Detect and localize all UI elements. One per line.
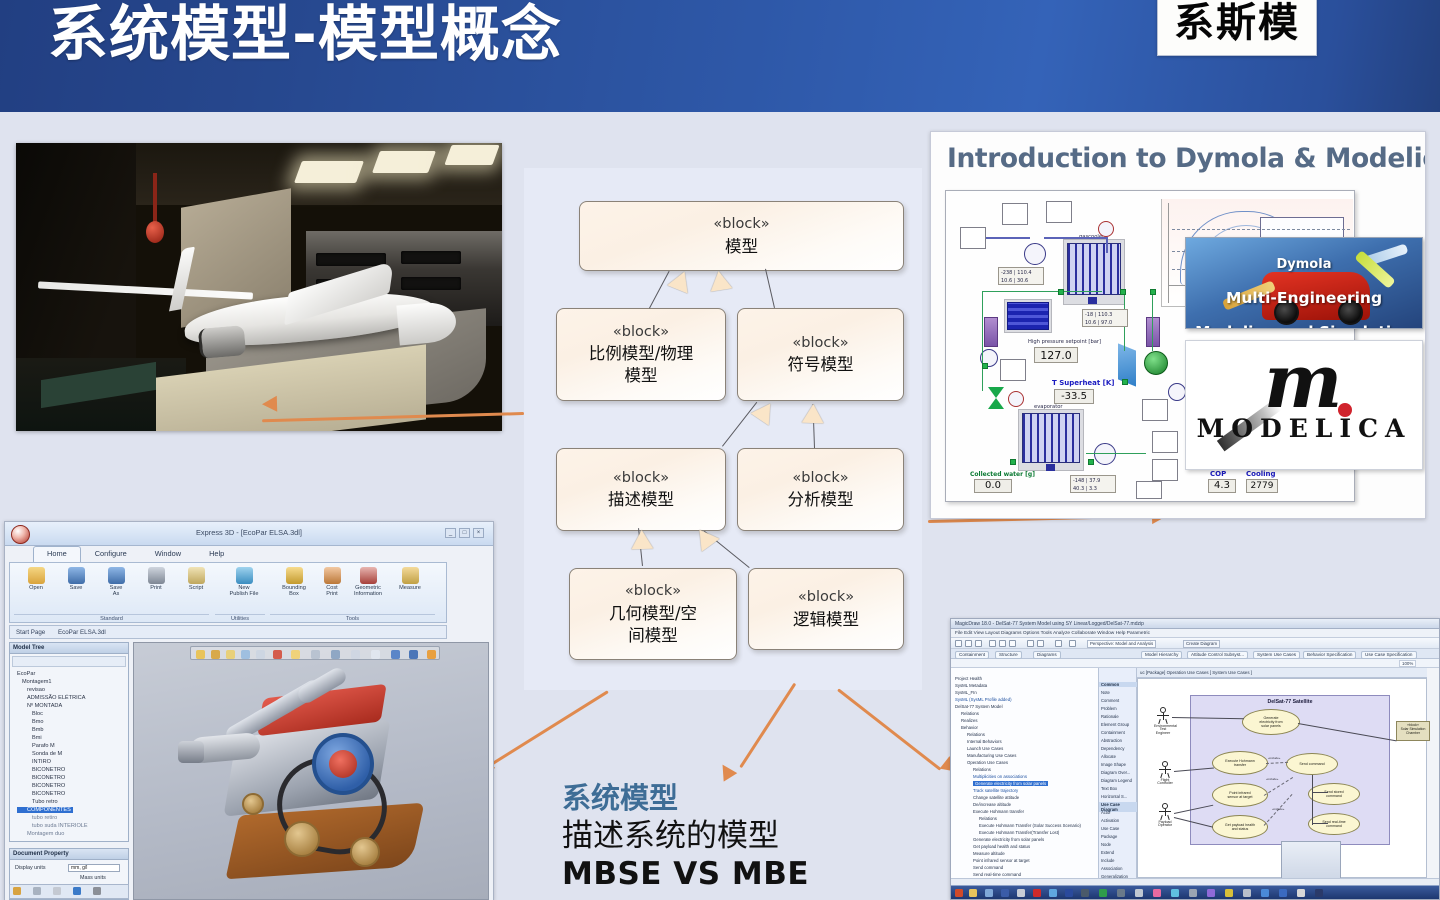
dymola-pump [1094, 443, 1116, 465]
palette-item[interactable]: Association [1101, 866, 1122, 871]
script-icon [188, 567, 205, 584]
pointer-arrow-to-caption [739, 683, 796, 769]
cad-ribbon-tabs: Home Configure Window Help [33, 546, 238, 562]
tree-item[interactable]: INTIRO [17, 759, 51, 765]
md-tree-item[interactable]: De/increase altitude [973, 802, 1011, 807]
maximize-button[interactable]: □ [459, 528, 470, 538]
md-tree-item[interactable]: Operation Use Cases [967, 760, 1008, 765]
tree-item[interactable]: tubo retiro [17, 815, 57, 821]
md-tree-item[interactable]: Launch Use Cases [967, 746, 1003, 751]
save-icon[interactable] [975, 640, 982, 647]
floppy-disk-icon [68, 567, 85, 584]
light-icon[interactable] [371, 650, 380, 659]
report-icon[interactable] [1069, 640, 1076, 647]
dymola-fan [1098, 221, 1114, 237]
block-name: 描述模型 [608, 489, 674, 511]
dymola-node-value: -148 | 37.9 [1073, 478, 1100, 484]
taskbar-icon[interactable] [1261, 889, 1269, 897]
dymola-mini-plot [1152, 431, 1178, 453]
block-name: 逻辑模型 [793, 609, 859, 631]
dymola-device [1146, 317, 1160, 347]
annotate-icon[interactable] [391, 650, 400, 659]
md-tree-item[interactable]: DelSat-77 System Model [955, 704, 1003, 709]
ribbon-button-new-publish-file[interactable]: New Publish File [222, 567, 266, 598]
md-tree-item-selected[interactable]: Generate electricity from solar panels [973, 781, 1048, 786]
dymola-device [984, 317, 998, 347]
palette-item[interactable]: Diagram Over... [1101, 770, 1130, 775]
dymola-mini-plot [1136, 481, 1162, 499]
actor-label: Flight Controller [1156, 779, 1174, 787]
magicdraw-browser-tabs: Containment Structure Diagrams Model Hie… [951, 649, 1439, 659]
cad-bottom-toolbar [9, 884, 129, 899]
ribbon-label: New Publish File [222, 585, 266, 598]
dymola-label-water: Collected water [g] [970, 471, 1035, 478]
md-tree-item[interactable]: Send command [973, 865, 1003, 870]
caption-subheading: 描述系统的模型 [562, 818, 942, 856]
use-case-point-infrared[interactable]: Point infrared sensor at target [1212, 783, 1268, 807]
dymola-label-highpressure: High pressure setpoint [bar] [1028, 339, 1101, 345]
taskbar-icon[interactable] [955, 889, 963, 897]
md-tree-item[interactable]: Relations [973, 767, 991, 772]
page-title: 系统模型-模型概念 [48, 0, 562, 73]
actor-environmental-test-engineer[interactable]: Environmental Test Engineer [1154, 707, 1172, 736]
tree-item[interactable]: Bloc [17, 711, 43, 717]
ribbon-button-print[interactable]: Print [134, 567, 178, 591]
taskbar-icon[interactable] [985, 889, 993, 897]
minimize-button[interactable]: _ [445, 528, 456, 538]
modelica-m-icon: m [1264, 351, 1342, 414]
ribbon-button-script[interactable]: Script [174, 567, 218, 591]
taskbar-icon[interactable] [1001, 889, 1009, 897]
tab-configure[interactable]: Configure [81, 546, 141, 562]
md-tree-item[interactable]: Realizes [961, 718, 977, 723]
dymola-signal-line [982, 291, 983, 391]
ribbon-button-measure[interactable]: Measure [388, 567, 432, 591]
tree-item[interactable]: BICONETRO [17, 767, 65, 773]
tunnel-red-knob [146, 221, 164, 243]
pointer-arrow-head [262, 396, 277, 412]
md-tree-item[interactable]: Multiplicities on associations [973, 774, 1027, 779]
md-tree-item[interactable]: Change satellite attitude [973, 795, 1019, 800]
perspective-dropdown[interactable]: Perspective: Model and Analysis [1087, 640, 1156, 648]
cad-document-tabs: Start Page EcoPar ELSA.3dl [9, 625, 447, 639]
open-icon[interactable] [965, 640, 972, 647]
taskbar-icon[interactable] [969, 889, 977, 897]
cad-software-screenshot: Express 3D - [EcoPar ELSA.3dl] _ □ × Hom… [4, 521, 494, 900]
dymola-port [1150, 289, 1156, 295]
ribbon-button-geometric-information[interactable]: Geometric Information [346, 567, 390, 598]
palette-item[interactable]: Containment [1101, 730, 1125, 735]
magicdraw-diagram-palette: Common Note Comment Problem Rationale El… [1099, 668, 1137, 887]
use-case-send-realtime-command[interactable]: Send real-time command [1308, 813, 1360, 835]
tab-window[interactable]: Window [141, 546, 195, 562]
md-tree-item[interactable]: Get payload health and status [973, 844, 1030, 849]
dymola-port [1010, 459, 1016, 465]
rotate-icon[interactable] [211, 650, 220, 659]
md-tree-item[interactable]: Relations [979, 816, 997, 821]
use-case-get-payload-health[interactable]: Get payload health and status [1212, 815, 1268, 839]
cad-model-tree-panel: Model Tree EcoPar Montagem1 revisao ADMI… [9, 642, 129, 842]
dymola-signal-line [982, 291, 1102, 292]
document-property-title: Document Property [10, 849, 128, 860]
ribbon-label: Save As [94, 585, 138, 598]
banner-line-3: Modeling and Simulation [1186, 324, 1422, 329]
dymola-pipe [1106, 237, 1108, 253]
taskbar-icon[interactable] [1279, 889, 1287, 897]
md-tree-item[interactable]: Measure altitude [973, 851, 1005, 856]
generalization-arrowhead [667, 268, 695, 294]
magicdraw-floating-window[interactable] [1281, 841, 1341, 879]
block-name: 模型 [725, 236, 758, 258]
taskbar-icon[interactable] [1081, 889, 1089, 897]
windows-taskbar [951, 885, 1439, 899]
dymola-port [982, 363, 988, 369]
tree-item[interactable]: ADMISSÃO ELÉTRICA [17, 695, 85, 701]
section-icon[interactable] [273, 650, 282, 659]
engine-pulley [284, 821, 320, 857]
viewport-toolbar [190, 646, 440, 660]
magicdraw-window-title: MagicDraw 18.0 - DelSat-77 System Model … [955, 621, 1144, 627]
ribbon-label: Script [174, 585, 218, 591]
palette-item[interactable]: Allocate [1101, 754, 1116, 759]
block-analysis-model[interactable]: «block» 分析模型 [737, 448, 904, 531]
palette-item[interactable]: Rationale [1101, 714, 1119, 719]
breadcrumb-attitude-control[interactable]: Attitude Control Subsyst... [1187, 651, 1248, 659]
text-icon[interactable] [409, 650, 418, 659]
block-model[interactable]: «block» 模型 [579, 201, 904, 271]
taskbar-icon[interactable] [1207, 889, 1215, 897]
block-stereotype: «block» [625, 581, 681, 603]
measure-icon[interactable] [351, 650, 360, 659]
tab-structure[interactable]: Structure [995, 651, 1022, 659]
palette-item[interactable]: Abstraction [1101, 738, 1122, 743]
generalization-line [649, 271, 670, 309]
md-tree-item[interactable]: SysML Metadata [955, 683, 987, 688]
dymola-title: Introduction to Dymola & Modelica [947, 143, 1426, 174]
dymola-node-value: -18 | 110.3 [1085, 312, 1112, 318]
engine-pulley [242, 793, 264, 815]
model-taxonomy-diagram: «block» 模型 «block» 比例模型/物理 模型 «block» 符号… [524, 168, 922, 690]
md-tree-item[interactable]: Manufacturing Use Cases [967, 753, 1016, 758]
tab-diagrams[interactable]: Diagrams [1033, 651, 1061, 659]
dymola-banner: Dymola Multi-Engineering Modeling and Si… [1185, 237, 1423, 329]
bottom-tool-icon[interactable] [13, 887, 21, 895]
dymola-valve [988, 398, 1004, 409]
ribbon-group-standard: Standard [14, 614, 209, 622]
grill-slot [401, 251, 461, 264]
dymola-node-value: 10.6 | 97.0 [1085, 320, 1112, 326]
cost-icon [324, 567, 341, 584]
pointer-arrow-to-sysml [837, 688, 941, 770]
dymola-node-value: 10.6 | 30.6 [1001, 278, 1028, 284]
use-case-execute-hohmann[interactable]: Execute Hohmann transfer [1212, 751, 1268, 775]
breadcrumb-behavior-spec[interactable]: Behavior Specification [1303, 651, 1356, 659]
breadcrumb-use-case-spec[interactable]: Use Case Specification [1361, 651, 1417, 659]
actor-body-icon [1154, 713, 1172, 724]
dymola-value-highpressure: 127.0 [1034, 347, 1078, 363]
tree-item[interactable]: tubo suda INTERIOLE [17, 823, 88, 829]
taskbar-icon[interactable] [1243, 889, 1251, 897]
tree-item[interactable]: BICONETRO [17, 791, 65, 797]
prop-label-display-units: Display units [15, 865, 46, 871]
dymola-signal-line [1152, 291, 1153, 351]
dymola-valve [988, 387, 1004, 398]
ribbon-button-save-as[interactable]: Save As [94, 567, 138, 598]
ribbon-group-tools: Tools [270, 614, 435, 622]
tree-item[interactable]: BICONETRO [17, 783, 65, 789]
md-tree-item[interactable]: Generate electricity from solar panels [973, 837, 1044, 842]
explode-icon[interactable] [331, 650, 340, 659]
tree-item[interactable]: Bmo [17, 719, 44, 725]
prop-field-display-units[interactable]: mm, g/l [68, 864, 120, 872]
md-tree-item[interactable]: Behavior [961, 725, 978, 730]
modelica-wordmark: MODELICA [1186, 414, 1422, 443]
dymola-mini-plot [1152, 459, 1178, 481]
use-case-send-command[interactable]: Send command [1286, 753, 1338, 775]
bottom-tool-icon[interactable] [73, 887, 81, 895]
md-tree-item[interactable]: Relations [967, 732, 985, 737]
md-tree-item[interactable]: SysML (SysML Profile added) [955, 697, 1012, 702]
tree-item[interactable]: Bmi [17, 735, 42, 741]
bottom-tool-icon[interactable] [93, 887, 101, 895]
taskbar-icon[interactable] [1065, 889, 1073, 897]
dymola-intro-panel: Introduction to Dymola & Modelica gascoo… [930, 131, 1426, 519]
grill-slot [401, 277, 461, 290]
pointer-arrow-to-cad [484, 690, 609, 769]
actor-label: Environmental Test Engineer [1154, 725, 1172, 737]
magicdraw-titlebar: MagicDraw 18.0 - DelSat-77 System Model … [951, 619, 1439, 629]
copy-icon[interactable] [1009, 640, 1016, 647]
taskbar-icon[interactable] [1017, 889, 1025, 897]
use-case-send-stored-command[interactable]: Send stored command [1308, 783, 1360, 805]
palette-item[interactable]: Element Group [1101, 722, 1129, 727]
palette-header-common[interactable]: Common [1099, 682, 1137, 687]
magicdraw-format-toolbar: 100% [951, 659, 1439, 668]
actor-payload-operator[interactable]: Payload Operator [1156, 803, 1174, 828]
zoom-level[interactable]: 100% [1399, 660, 1416, 667]
dymola-mini-plot [960, 227, 986, 249]
folder-open-icon [28, 567, 45, 584]
page-header: 系统模型-模型概念 系斯模 [0, 0, 1440, 112]
dymola-fan [1008, 391, 1024, 407]
tree-item[interactable]: Bmb [17, 727, 44, 733]
palette-item[interactable]: Note [1101, 690, 1110, 695]
close-button[interactable]: × [473, 528, 484, 538]
aircraft-engine [198, 325, 246, 359]
tab-home[interactable]: Home [33, 546, 81, 562]
dymola-value-cooling: 2779 [1246, 479, 1278, 493]
grill-slot [316, 253, 386, 266]
tree-item[interactable]: Tubo retro [17, 799, 58, 805]
taskbar-icon[interactable] [1153, 889, 1161, 897]
md-tree-item[interactable]: Execute Hohmann Transfer(Transfer Lost) [979, 830, 1059, 835]
md-tree-item[interactable]: Point infrared sensor at target [973, 858, 1030, 863]
shade-icon[interactable] [291, 650, 300, 659]
md-tree-item[interactable]: Track satellite trajectory [973, 788, 1018, 793]
wireframe-icon[interactable] [311, 650, 320, 659]
palette-item[interactable]: Activation [1101, 818, 1119, 823]
logo-text: 系斯模 [1174, 3, 1300, 43]
palette-item[interactable]: Extend [1101, 850, 1114, 855]
block-scale-physical-model[interactable]: «block» 比例模型/物理 模型 [556, 308, 726, 401]
tree-item-selected[interactable]: COMPONENTES [17, 807, 73, 813]
validate-icon[interactable] [1055, 640, 1062, 647]
doc-tab-start-page[interactable]: Start Page [16, 629, 45, 636]
undo-icon[interactable] [1027, 640, 1034, 647]
tree-item[interactable]: Montagem duo [17, 831, 64, 837]
block-stereotype: «block» [713, 214, 769, 236]
doc-tab-model[interactable]: EcoPar ELSA.3dl [58, 629, 106, 636]
tree-item[interactable]: BICONETRO [17, 775, 65, 781]
block-stereotype: «block» [613, 322, 669, 344]
palette-item[interactable]: Problem [1101, 706, 1117, 711]
pan-icon[interactable] [196, 650, 205, 659]
dymola-label-superheat: T Superheat [K] [1052, 379, 1115, 387]
throttle-body [178, 741, 204, 763]
palette-item[interactable]: Text Box [1101, 786, 1117, 791]
ribbon-button-open[interactable]: Open [14, 567, 58, 591]
dymola-pump [1168, 383, 1186, 401]
cut-icon[interactable] [999, 640, 1006, 647]
bottom-tool-icon[interactable] [53, 887, 61, 895]
taskbar-icon[interactable] [1315, 889, 1323, 897]
zoom-in-icon[interactable] [241, 650, 250, 659]
palette-item[interactable]: Package [1101, 834, 1117, 839]
cad-titlebar: Express 3D - [EcoPar ELSA.3dl] [5, 522, 493, 546]
tree-item[interactable]: Montagem1 [17, 679, 52, 685]
block-symbolic-model[interactable]: «block» 符号模型 [737, 308, 904, 401]
block-descriptive-model[interactable]: «block» 描述模型 [556, 448, 726, 531]
use-case-generate-electricity[interactable]: Generate electricity from solar panels [1242, 709, 1300, 735]
dymola-port [1122, 379, 1128, 385]
taskbar-icon[interactable] [1171, 889, 1179, 897]
md-tree-item[interactable]: Send real-time command [973, 872, 1021, 877]
ribbon-label: Measure [388, 585, 432, 591]
external-block-solar-simulation-chamber[interactable]: «block» Solar Simulation Chamber [1396, 721, 1430, 741]
tree-item[interactable]: Nº MONTADA [17, 703, 62, 709]
magicdraw-menubar[interactable]: File Edit View Layout Diagrams Options T… [951, 629, 1439, 638]
md-tree-item[interactable]: Internal Behaviors [967, 739, 1002, 744]
ribbon-label: Print [134, 585, 178, 591]
fit-icon[interactable] [226, 650, 235, 659]
dymola-evaporator [1022, 413, 1080, 463]
md-tree-item[interactable]: Execute Hohmann transfer [973, 809, 1024, 814]
magicdraw-toolbar: Perspective: Model and Analysis Create D… [951, 638, 1439, 649]
actor-body-icon [1156, 809, 1174, 820]
tree-item[interactable]: Sonda de M [17, 751, 62, 757]
print-icon[interactable] [989, 640, 996, 647]
printer-icon [148, 567, 165, 584]
palette-item[interactable]: Node [1101, 842, 1111, 847]
dymola-label-cop: COP [1210, 470, 1226, 478]
dymola-port [1120, 289, 1126, 295]
block-name: 比例模型/物理 模型 [589, 343, 694, 387]
md-tree-item[interactable]: Relations [961, 711, 979, 716]
breadcrumb-model-hierarchy[interactable]: Model Hierarchy [1141, 651, 1182, 659]
dymola-value-superheat: -33.5 [1054, 389, 1094, 404]
measure-icon [402, 567, 419, 584]
redo-icon[interactable] [1037, 640, 1044, 647]
dymola-node-value: 40.3 | 3.3 [1073, 486, 1097, 492]
block-logical-model[interactable]: «block» 逻辑模型 [748, 568, 904, 650]
taskbar-icon[interactable] [1099, 889, 1107, 897]
banner-line-1: Dymola [1186, 258, 1422, 272]
magicdraw-canvas-tab[interactable]: uc [Package] Operation Use Cases [ Syste… [1137, 668, 1427, 678]
palette-item[interactable]: Image Shape [1101, 762, 1126, 767]
tree-item[interactable]: EcoPar [17, 671, 35, 677]
md-tree-item[interactable]: Execute Hohmann Transfer (Solar Success … [979, 823, 1081, 828]
taskbar-icon[interactable] [1225, 889, 1233, 897]
block-stereotype: «block» [792, 468, 848, 490]
taskbar-icon[interactable] [1135, 889, 1143, 897]
new-icon[interactable] [955, 640, 962, 647]
md-tree-item[interactable]: SysML_FIn [955, 690, 977, 695]
palette-item[interactable]: Actor [1101, 810, 1111, 815]
cad-window-title: Express 3D - [EcoPar ELSA.3dl] [196, 528, 302, 537]
tree-item[interactable]: revisao [17, 687, 45, 693]
cad-app-orb-icon[interactable] [11, 525, 30, 544]
block-geometric-spatial-model[interactable]: «block» 几何模型/空 间模型 [569, 568, 737, 660]
taskbar-icon[interactable] [1049, 889, 1057, 897]
palette-item[interactable]: Use Case [1101, 826, 1119, 831]
magicdraw-statusbar [951, 878, 1439, 885]
generalization-arrowhead [708, 269, 733, 291]
palette-item[interactable]: Horizontal S... [1101, 794, 1127, 799]
dymola-port [1088, 459, 1094, 465]
taskbar-icon[interactable] [1033, 889, 1041, 897]
palette-item[interactable]: Include [1101, 858, 1115, 863]
breadcrumb-system-use-cases[interactable]: System Use Cases [1253, 651, 1300, 659]
palette-item[interactable]: Diagram Legend [1101, 778, 1132, 783]
dymola-node-table: -148 | 37.9 40.3 | 3.3 [1070, 475, 1116, 493]
dymola-compressor [1144, 351, 1168, 375]
include-label: «include» [1268, 756, 1280, 760]
tab-containment[interactable]: Containment [955, 651, 989, 659]
tunnel-light-1 [294, 161, 364, 183]
palette-item[interactable]: Comment [1101, 698, 1119, 703]
generalization-line [765, 269, 775, 308]
bottom-tool-icon[interactable] [33, 887, 41, 895]
tree-item[interactable]: Parafo M [17, 743, 55, 749]
ribbon-label: Open [14, 585, 58, 591]
palette-item[interactable]: Dependency [1101, 746, 1125, 751]
ribbon-label: Geometric Information [346, 585, 390, 598]
tunnel-light-3 [444, 145, 499, 165]
zoom-out-icon[interactable] [256, 650, 265, 659]
publish-icon [236, 567, 253, 584]
dymola-node-table: -238 | 110.4 10.6 | 30.6 [998, 267, 1044, 285]
caption-footer: MBSE VS MBE [562, 856, 942, 893]
color-icon[interactable] [427, 650, 436, 659]
dymola-pipe [1044, 237, 1106, 239]
dymola-node-value: -238 | 110.4 [1001, 270, 1032, 276]
cad-3d-viewport[interactable] [133, 642, 489, 900]
generalization-arrowhead [802, 404, 825, 424]
tab-help[interactable]: Help [195, 546, 238, 562]
tree-toolbar [12, 656, 126, 667]
actor-flight-controller[interactable]: Flight Controller [1156, 761, 1174, 786]
dymola-signal-line [1086, 453, 1146, 454]
dymola-gascooler [1067, 243, 1121, 295]
block-stereotype: «block» [792, 333, 848, 355]
actor-body-icon [1156, 767, 1174, 778]
md-tree-item[interactable]: Project Health [955, 676, 982, 681]
taskbar-icon[interactable] [1297, 889, 1305, 897]
taskbar-icon[interactable] [1117, 889, 1125, 897]
create-diagram-button[interactable]: Create Diagram [1183, 640, 1220, 648]
ribbon-button-save[interactable]: Save [54, 567, 98, 591]
taskbar-icon[interactable] [1189, 889, 1197, 897]
